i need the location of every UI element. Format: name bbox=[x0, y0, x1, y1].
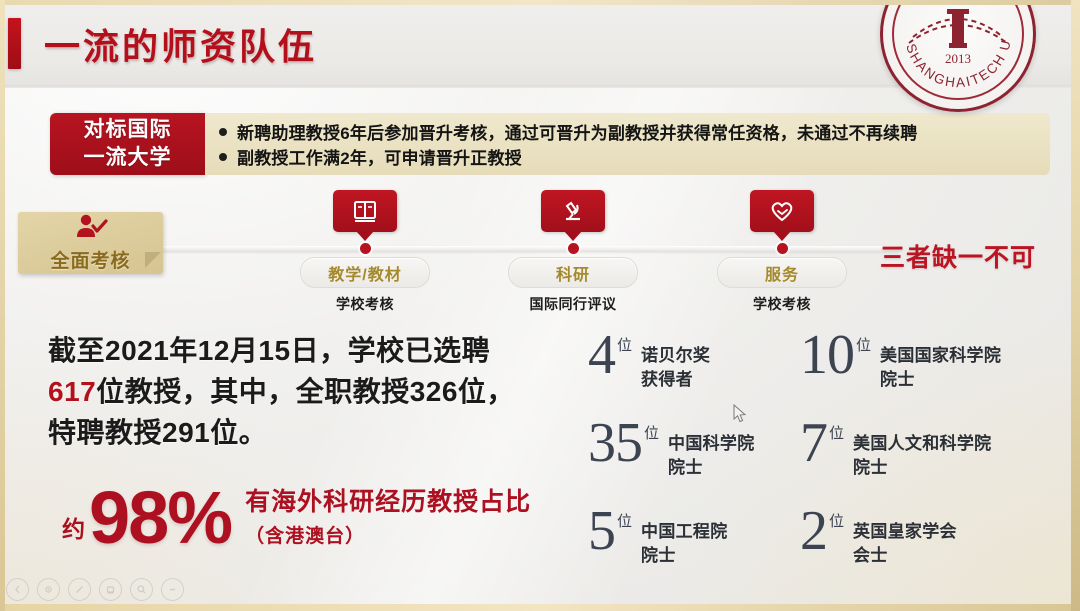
stat-unit: 位 bbox=[829, 422, 844, 443]
stat-label-line1: 中国科学院 bbox=[668, 432, 755, 456]
stat-label-line1: 英国皇家学会 bbox=[853, 520, 957, 544]
previous-icon[interactable] bbox=[6, 578, 29, 601]
eraser-icon[interactable] bbox=[99, 578, 122, 601]
summary-line-2: 617位教授，其中，全职教授326位， bbox=[48, 371, 568, 412]
percentage-caption-line2: （含港澳台） bbox=[245, 521, 531, 548]
banner-tab-line1: 对标国际 bbox=[84, 116, 172, 144]
process-node-label: 服务 bbox=[765, 261, 799, 285]
zoom-icon[interactable] bbox=[130, 578, 153, 601]
process-node-teaching: 教学/教材 学校考核 bbox=[270, 190, 460, 314]
minus-icon[interactable] bbox=[161, 578, 184, 601]
page-title: 一流的师资队伍 bbox=[44, 18, 317, 70]
stat-item-cas: 35 位 中国科学院 院士 bbox=[582, 418, 800, 506]
svg-text:2013: 2013 bbox=[945, 51, 971, 66]
stat-number: 4 bbox=[588, 330, 615, 380]
process-node-research: 科研 国际同行评议 bbox=[478, 190, 668, 314]
stat-label-line2: 院士 bbox=[853, 456, 991, 480]
stat-item-nas: 10 位 美国国家科学院 院士 bbox=[800, 330, 1046, 418]
pointer-icon[interactable] bbox=[37, 578, 60, 601]
pen-icon[interactable] bbox=[68, 578, 91, 601]
faculty-honors-grid: 4 位 诺贝尔奖 获得者 10 位 美国国家科学院 院士 35 位 bbox=[582, 330, 1052, 594]
stats-row: 5 位 中国工程院 院士 2 位 英国皇家学会 会士 bbox=[582, 506, 1052, 594]
stat-item-aaas: 7 位 美国人文和科学院 院士 bbox=[800, 418, 1046, 506]
stage-corner-fold bbox=[145, 252, 161, 268]
percentage-caption: 有海外科研经历教授占比 （含港澳台） bbox=[245, 482, 531, 548]
banner-tab-label: 对标国际 一流大学 bbox=[50, 113, 205, 175]
banner-bullet-item: 新聘助理教授6年后参加晋升考核，通过可晋升为副教授并获得常任资格，未通过不再续聘 bbox=[219, 119, 1040, 144]
stat-label: 美国人文和科学院 院士 bbox=[853, 432, 991, 480]
bullet-dot-icon bbox=[219, 153, 227, 161]
stat-label: 美国国家科学院 院士 bbox=[880, 344, 1001, 392]
microscope-icon bbox=[541, 190, 605, 232]
policy-banner: 对标国际 一流大学 新聘助理教授6年后参加晋升考核，通过可晋升为副教授并获得常任… bbox=[50, 113, 1050, 175]
mouse-cursor bbox=[733, 404, 747, 429]
stat-label: 中国科学院 院士 bbox=[668, 432, 755, 480]
stat-label: 英国皇家学会 会士 bbox=[853, 520, 957, 568]
stat-number: 2 bbox=[800, 506, 827, 556]
stat-label-line2: 院士 bbox=[668, 456, 755, 480]
stat-unit: 位 bbox=[617, 334, 632, 355]
slide-frame-top bbox=[0, 0, 1080, 5]
percentage-value: 98% bbox=[89, 484, 231, 552]
stat-label-line1: 诺贝尔奖 bbox=[641, 344, 710, 368]
slide-frame-bottom bbox=[0, 604, 1080, 611]
process-node-pill: 科研 bbox=[508, 257, 638, 288]
logo-artwork: 2013 SHANGHAITECH UNIVERSITY bbox=[883, 0, 1033, 109]
stat-unit: 位 bbox=[829, 510, 844, 531]
stat-number: 10 bbox=[800, 330, 854, 380]
summary-line-3: 特聘教授291位。 bbox=[48, 412, 568, 453]
overseas-percentage-block: 约 98% 有海外科研经历教授占比 （含港澳台） bbox=[48, 482, 531, 552]
stat-item-nobel: 4 位 诺贝尔奖 获得者 bbox=[582, 330, 800, 418]
stats-row: 35 位 中国科学院 院士 7 位 美国人文和科学院 院士 bbox=[582, 418, 1052, 506]
process-node-pill: 教学/教材 bbox=[300, 257, 430, 288]
summary-highlight-number: 617 bbox=[48, 376, 96, 407]
stat-label-line2: 院士 bbox=[641, 544, 728, 568]
process-node-label: 教学/教材 bbox=[328, 261, 401, 285]
percentage-approx-label: 约 bbox=[62, 510, 85, 544]
stat-number: 7 bbox=[800, 418, 827, 468]
process-node-service: 服务 学校考核 bbox=[687, 190, 877, 314]
stat-unit: 位 bbox=[856, 334, 871, 355]
banner-bullet-text: 副教授工作满2年，可申请晋升正教授 bbox=[237, 144, 522, 169]
process-node-sublabel: 学校考核 bbox=[687, 294, 877, 314]
slide-frame-right bbox=[1071, 0, 1080, 611]
stat-label: 诺贝尔奖 获得者 bbox=[641, 344, 710, 392]
slide-frame-left bbox=[0, 0, 5, 611]
stat-item-royal-society: 2 位 英国皇家学会 会士 bbox=[800, 506, 1046, 594]
person-check-icon bbox=[74, 213, 108, 244]
stat-item-cae: 5 位 中国工程院 院士 bbox=[582, 506, 800, 594]
process-stage-label: 全面考核 bbox=[50, 246, 130, 273]
process-slogan: 三者缺一不可 bbox=[880, 238, 1036, 274]
stat-label-line1: 美国人文和科学院 bbox=[853, 432, 991, 456]
shanghaitech-university-logo-icon: 2013 SHANGHAITECH UNIVERSITY bbox=[880, 0, 1036, 112]
summary-line-2-rest: 位教授，其中，全职教授326位， bbox=[96, 376, 515, 407]
book-icon bbox=[333, 190, 397, 232]
banner-bullet-list: 新聘助理教授6年后参加晋升考核，通过可晋升为副教授并获得常任资格，未通过不再续聘… bbox=[205, 113, 1050, 175]
presentation-toolbar[interactable] bbox=[6, 578, 184, 601]
bullet-dot-icon bbox=[219, 128, 227, 136]
stat-number: 35 bbox=[588, 418, 642, 468]
process-node-dot bbox=[568, 243, 579, 254]
stat-label-line2: 获得者 bbox=[641, 368, 710, 392]
banner-bullet-item: 副教授工作满2年，可申请晋升正教授 bbox=[219, 144, 1040, 169]
process-node-dot bbox=[360, 243, 371, 254]
faculty-summary-text: 截至2021年12月15日，学校已选聘 617位教授，其中，全职教授326位， … bbox=[48, 330, 568, 453]
stat-unit: 位 bbox=[644, 422, 659, 443]
process-stage-overall: 全面考核 bbox=[18, 212, 163, 274]
stat-label-line1: 美国国家科学院 bbox=[880, 344, 1001, 368]
stats-row: 4 位 诺贝尔奖 获得者 10 位 美国国家科学院 院士 bbox=[582, 330, 1052, 418]
stat-number: 5 bbox=[588, 506, 615, 556]
stat-label-line2: 院士 bbox=[880, 368, 1001, 392]
process-node-sublabel: 国际同行评议 bbox=[478, 294, 668, 314]
presentation-slide: 一流的师资队伍 2013 SHANGHAITECH UNIVERSITY 对标国… bbox=[0, 0, 1080, 611]
stat-unit: 位 bbox=[617, 510, 632, 531]
banner-tab-line2: 一流大学 bbox=[84, 144, 172, 172]
process-node-label: 科研 bbox=[556, 261, 590, 285]
process-node-sublabel: 学校考核 bbox=[270, 294, 460, 314]
process-node-pill: 服务 bbox=[717, 257, 847, 288]
title-accent-bar bbox=[8, 18, 21, 69]
stat-label-line2: 会士 bbox=[853, 544, 957, 568]
percentage-caption-line1: 有海外科研经历教授占比 bbox=[245, 482, 531, 518]
heart-handshake-icon bbox=[750, 190, 814, 232]
stat-label: 中国工程院 院士 bbox=[641, 520, 728, 568]
process-node-dot bbox=[777, 243, 788, 254]
summary-line-1: 截至2021年12月15日，学校已选聘 bbox=[48, 330, 568, 371]
stat-label-line1: 中国工程院 bbox=[641, 520, 728, 544]
banner-bullet-text: 新聘助理教授6年后参加晋升考核，通过可晋升为副教授并获得常任资格，未通过不再续聘 bbox=[237, 119, 917, 144]
